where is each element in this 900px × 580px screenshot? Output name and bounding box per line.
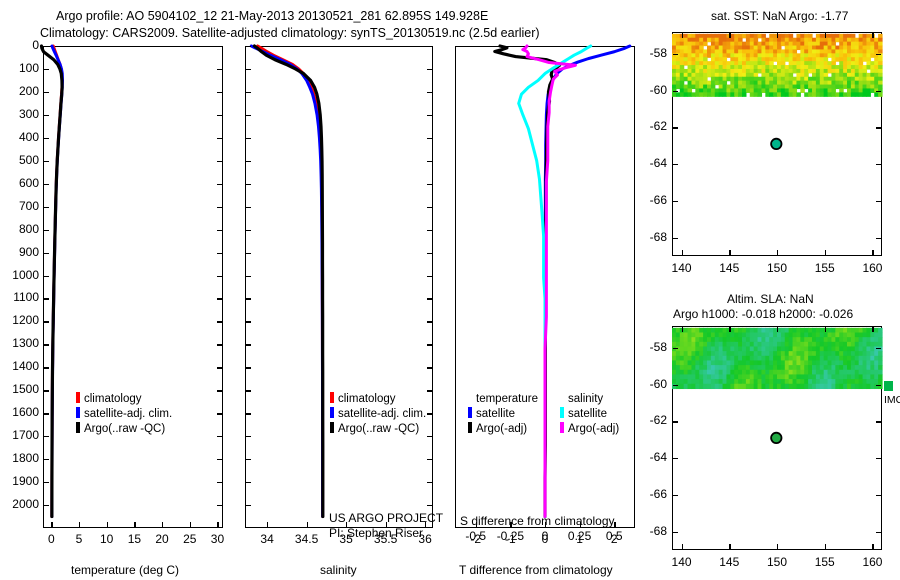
latitude-tick-label: -64 (632, 450, 667, 464)
longitude-tick-label: 160 (848, 261, 896, 275)
tick-mark (217, 184, 222, 185)
depth-tick-label: 2000 (0, 497, 39, 511)
tick-mark (44, 321, 49, 322)
legend-color-swatch (560, 407, 564, 418)
sla-map-title-line1: Altim. SLA: NaN (727, 292, 814, 306)
tick-mark (217, 436, 222, 437)
legend-item: climatology (330, 392, 426, 407)
tick-mark (682, 250, 683, 255)
tick-mark (246, 367, 251, 368)
tick-mark (246, 390, 251, 391)
longitude-tick-label: 150 (753, 261, 801, 275)
legend-item: satellite (468, 407, 538, 422)
tick-mark (217, 138, 222, 139)
tick-mark (872, 33, 873, 38)
tick-mark (876, 127, 881, 128)
tick-mark (217, 367, 222, 368)
latitude-tick-label: -62 (632, 413, 667, 427)
tick-mark (427, 46, 432, 47)
tick-mark (246, 184, 251, 185)
tick-mark (777, 250, 778, 255)
tick-mark (307, 522, 308, 527)
figure-title-line2: Climatology: CARS2009. Satellite-adjuste… (40, 26, 540, 40)
legend-item-label: satellite-adj. clim. (338, 408, 426, 420)
legend-item: Argo(..raw -QC) (76, 422, 172, 437)
tick-mark (44, 46, 49, 47)
tick-mark (107, 522, 108, 527)
tick-mark (825, 250, 826, 255)
legend-color-swatch (330, 407, 334, 418)
tick-mark (876, 54, 881, 55)
tick-mark (162, 522, 163, 527)
tick-mark (44, 69, 49, 70)
legend-item: Argo(..raw -QC) (330, 422, 426, 437)
tick-mark (876, 164, 881, 165)
tick-mark (673, 495, 678, 496)
tick-mark (427, 298, 432, 299)
legend-item: climatology (76, 392, 172, 407)
tick-mark (246, 230, 251, 231)
tick-mark (673, 127, 678, 128)
sst-map-plot (672, 32, 882, 256)
depth-tick-label: 1400 (0, 359, 39, 373)
legend-item-label: climatology (84, 393, 142, 405)
tick-mark (673, 201, 678, 202)
tick-mark (777, 33, 778, 38)
legend-item-label: Argo(-adj) (476, 423, 527, 435)
legend-group-heading: salinity (560, 392, 619, 407)
tick-mark (246, 92, 251, 93)
tick-mark (427, 390, 432, 391)
difference-profile-plot (455, 46, 635, 528)
tick-mark (44, 92, 49, 93)
tick-mark (246, 505, 251, 506)
tick-mark (44, 413, 49, 414)
legend-item-label: Argo(..raw -QC) (338, 423, 419, 435)
legend-item: satellite-adj. clim. (76, 407, 172, 422)
tick-mark (427, 69, 432, 70)
tick-mark (427, 344, 432, 345)
tick-mark (246, 459, 251, 460)
longitude-tick-label: 145 (705, 261, 753, 275)
longitude-tick-label: 155 (801, 555, 849, 569)
tick-mark (44, 161, 49, 162)
longitude-tick-label: 160 (848, 555, 896, 569)
tick-mark (217, 321, 222, 322)
tick-mark (427, 207, 432, 208)
legend-group: temperaturesatelliteArgo(-adj) (468, 392, 538, 437)
salinity-x-axis-label: salinity (320, 563, 357, 577)
tick-mark (427, 413, 432, 414)
legend-color-swatch (76, 392, 80, 403)
depth-tick-label: 1100 (0, 290, 39, 304)
tick-mark (44, 138, 49, 139)
tick-mark (777, 327, 778, 332)
latitude-tick-label: -68 (632, 230, 667, 244)
tick-mark (44, 253, 49, 254)
tick-mark (246, 321, 251, 322)
tick-mark (217, 115, 222, 116)
tick-mark (777, 544, 778, 549)
tick-mark (673, 458, 678, 459)
depth-tick-label: 1300 (0, 336, 39, 350)
tick-mark (427, 436, 432, 437)
tick-mark (825, 327, 826, 332)
tick-mark (876, 201, 881, 202)
tick-mark (246, 253, 251, 254)
tick-mark (217, 230, 222, 231)
tick-mark (217, 413, 222, 414)
tick-mark (673, 421, 678, 422)
tick-mark (427, 459, 432, 460)
legend-color-swatch (330, 422, 334, 433)
sla-map-plot (672, 326, 882, 550)
temperature-x-axis-label: temperature (deg C) (71, 563, 179, 577)
depth-tick-label: 400 (0, 130, 39, 144)
tick-mark (217, 522, 218, 527)
tick-mark (51, 522, 52, 527)
tick-mark (44, 367, 49, 368)
latitude-tick-label: -62 (632, 119, 667, 133)
tick-mark (44, 276, 49, 277)
legend-color-swatch (76, 407, 80, 418)
depth-tick-label: 1000 (0, 268, 39, 282)
tick-mark (673, 348, 678, 349)
tick-mark (876, 532, 881, 533)
latitude-tick-label: -60 (632, 377, 667, 391)
latitude-tick-label: -58 (632, 46, 667, 60)
tick-mark (729, 327, 730, 332)
tick-mark (217, 92, 222, 93)
depth-tick-label: 300 (0, 107, 39, 121)
tick-mark (134, 522, 135, 527)
temperature-legend: climatologysatellite-adj. clim.Argo(..ra… (76, 392, 172, 437)
tick-mark (876, 91, 881, 92)
tick-mark (729, 33, 730, 38)
legend-item: Argo(-adj) (560, 422, 619, 437)
latitude-tick-label: -66 (632, 487, 667, 501)
depth-tick-label: 500 (0, 153, 39, 167)
tick-mark (246, 298, 251, 299)
tick-mark (246, 344, 251, 345)
tick-mark (427, 321, 432, 322)
depth-tick-label: 1700 (0, 428, 39, 442)
depth-tick-label: 1600 (0, 405, 39, 419)
figure-title-line1: Argo profile: AO 5904102_12 21-May-2013 … (56, 9, 488, 23)
tick-mark (682, 327, 683, 332)
legend-color-swatch (330, 392, 334, 403)
tick-mark (427, 482, 432, 483)
temperature-profile-plot (43, 46, 223, 528)
tick-mark (44, 436, 49, 437)
longitude-tick-label: 155 (801, 261, 849, 275)
legend-item: satellite-adj. clim. (330, 407, 426, 422)
tick-mark (427, 230, 432, 231)
tick-mark (246, 46, 251, 47)
tick-mark (673, 385, 678, 386)
depth-tick-label: 1900 (0, 474, 39, 488)
tick-mark (876, 495, 881, 496)
tick-mark (246, 276, 251, 277)
difference-legend: temperaturesatelliteArgo(-adj)salinitysa… (468, 392, 619, 437)
tick-mark (217, 207, 222, 208)
legend-color-swatch (560, 422, 564, 433)
axis-tick-label: 30 (191, 532, 243, 546)
tick-mark (44, 298, 49, 299)
latitude-tick-label: -58 (632, 340, 667, 354)
tick-mark (427, 367, 432, 368)
longitude-tick-label: 145 (705, 555, 753, 569)
legend-color-swatch (76, 422, 80, 433)
depth-tick-label: 1200 (0, 313, 39, 327)
legend-color-swatch (468, 422, 472, 433)
tick-mark (44, 184, 49, 185)
depth-tick-label: 600 (0, 176, 39, 190)
tick-mark (427, 276, 432, 277)
depth-tick-label: 200 (0, 84, 39, 98)
tick-mark (872, 327, 873, 332)
tick-mark (246, 161, 251, 162)
tick-mark (872, 544, 873, 549)
tick-mark (825, 33, 826, 38)
difference-x-axis-label-bottom: T difference from climatology (459, 563, 613, 577)
legend-color-swatch (468, 407, 472, 418)
legend-group: salinitysatelliteArgo(-adj) (560, 392, 619, 437)
tick-mark (825, 544, 826, 549)
legend-group-heading: temperature (468, 392, 538, 407)
tick-mark (217, 253, 222, 254)
legend-item-label: satellite (476, 408, 515, 420)
tick-mark (44, 390, 49, 391)
tick-mark (427, 115, 432, 116)
tick-mark (217, 459, 222, 460)
depth-tick-label: 700 (0, 199, 39, 213)
salinity-legend: climatologysatellite-adj. clim.Argo(..ra… (330, 392, 426, 437)
tick-mark (246, 436, 251, 437)
sst-map-title: sat. SST: NaN Argo: -1.77 (711, 9, 848, 23)
tick-mark (876, 385, 881, 386)
tick-mark (427, 505, 432, 506)
tick-mark (217, 505, 222, 506)
salinity-profile-plot (245, 46, 433, 528)
legend-item-label: satellite-adj. clim. (84, 408, 172, 420)
depth-tick-label: 1800 (0, 451, 39, 465)
tick-mark (427, 138, 432, 139)
tick-mark (79, 522, 80, 527)
tick-mark (673, 54, 678, 55)
sla-map-title-line2: Argo h1000: -0.018 h2000: -0.026 (673, 307, 853, 321)
legend-item: Argo(-adj) (468, 422, 538, 437)
tick-mark (427, 253, 432, 254)
tick-mark (427, 161, 432, 162)
tick-mark (729, 544, 730, 549)
tick-mark (876, 458, 881, 459)
tick-mark (872, 250, 873, 255)
credit-line-1: US ARGO PROJECT (329, 511, 443, 525)
depth-tick-label: 100 (0, 61, 39, 75)
tick-mark (673, 164, 678, 165)
tick-mark (246, 413, 251, 414)
latitude-tick-label: -66 (632, 193, 667, 207)
legend-item-label: Argo(..raw -QC) (84, 423, 165, 435)
depth-tick-label: 1500 (0, 382, 39, 396)
tick-mark (190, 522, 191, 527)
tick-mark (682, 33, 683, 38)
tick-mark (44, 505, 49, 506)
tick-mark (876, 421, 881, 422)
tick-mark (246, 138, 251, 139)
tick-mark (217, 46, 222, 47)
tick-mark (44, 207, 49, 208)
tick-mark (427, 184, 432, 185)
tick-mark (44, 115, 49, 116)
tick-mark (217, 298, 222, 299)
tick-mark (876, 348, 881, 349)
tick-mark (246, 482, 251, 483)
longitude-tick-label: 140 (658, 261, 706, 275)
tick-mark (217, 276, 222, 277)
tick-mark (44, 459, 49, 460)
depth-tick-label: 800 (0, 222, 39, 236)
tick-mark (673, 532, 678, 533)
credit-line-2: PI: Stephen Riser (329, 526, 423, 540)
tick-mark (682, 544, 683, 549)
watermark-timestamp: IMOS 24-May-2013 17:07:10 (884, 390, 900, 408)
legend-item: satellite (560, 407, 619, 422)
tick-mark (217, 344, 222, 345)
tick-mark (44, 344, 49, 345)
tick-mark (673, 238, 678, 239)
legend-item-label: Argo(-adj) (568, 423, 619, 435)
longitude-tick-label: 140 (658, 555, 706, 569)
legend-item-label: satellite (568, 408, 607, 420)
longitude-tick-label: 150 (753, 555, 801, 569)
legend-item-label: climatology (338, 393, 396, 405)
difference-x-axis-label-top: S difference from climatology (460, 514, 615, 528)
tick-mark (673, 91, 678, 92)
tick-mark (246, 115, 251, 116)
tick-mark (246, 69, 251, 70)
tick-mark (729, 250, 730, 255)
depth-tick-label: 900 (0, 245, 39, 259)
tick-mark (876, 238, 881, 239)
tick-mark (217, 390, 222, 391)
tick-mark (217, 482, 222, 483)
tick-mark (44, 482, 49, 483)
tick-mark (246, 207, 251, 208)
tick-mark (217, 69, 222, 70)
depth-tick-label: 0 (0, 38, 39, 52)
tick-mark (427, 92, 432, 93)
latitude-tick-label: -68 (632, 524, 667, 538)
watermark-accent-bar (884, 381, 893, 391)
latitude-tick-label: -60 (632, 83, 667, 97)
latitude-tick-label: -64 (632, 156, 667, 170)
tick-mark (267, 522, 268, 527)
tick-mark (217, 161, 222, 162)
tick-mark (44, 230, 49, 231)
